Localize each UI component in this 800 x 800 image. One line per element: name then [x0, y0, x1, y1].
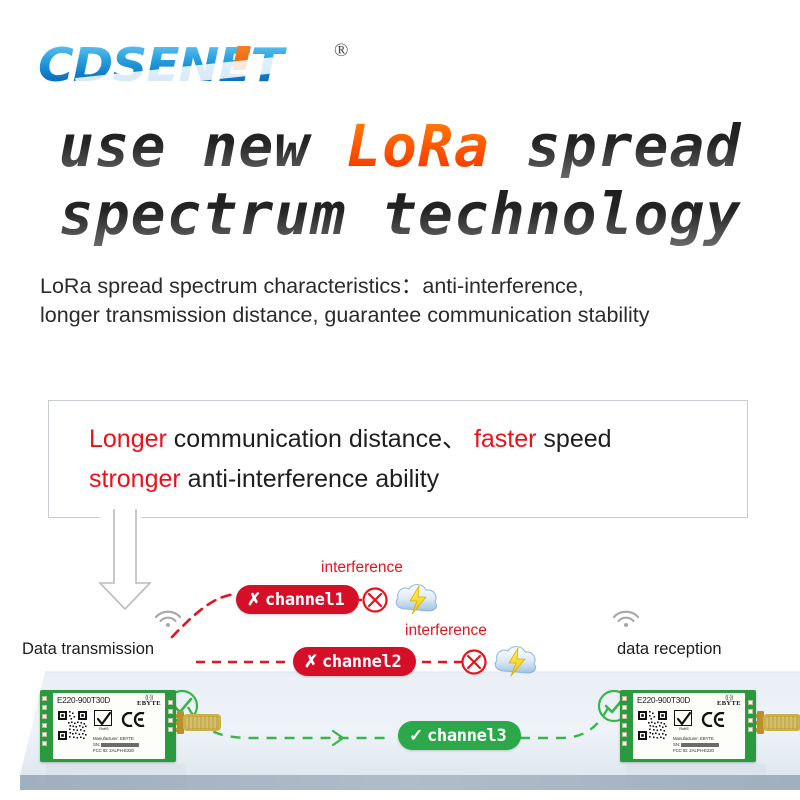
path-channel3-out	[520, 708, 608, 738]
channel-pill-label: channel3	[427, 726, 506, 746]
channel-pill-label: channel2	[322, 652, 401, 672]
channel-pill-channel1[interactable]: ✗ channel1	[236, 585, 359, 614]
qr-code-icon	[637, 710, 668, 741]
rohs-label: RoHS	[94, 727, 114, 731]
module-pcb: E220-900T30D ((·)) EBYTE	[40, 690, 176, 762]
wifi-signal-icon	[611, 608, 641, 628]
headline-text-use-new: use new	[59, 112, 346, 180]
label-data-transmission: Data transmission	[22, 640, 154, 659]
poster-canvas: CDSENET ® use new LoRa spread spectrum t…	[0, 0, 800, 800]
rohs-mark: RoHS	[94, 710, 114, 732]
storm-cloud-lightning-icon	[495, 647, 535, 676]
subtitle-line-2: longer transmission distance, guarantee …	[40, 301, 800, 330]
callout-keyword-longer: Longer	[89, 425, 167, 453]
subtitle: LoRa spread spectrum characteristics：ant…	[40, 272, 800, 330]
module-reflection	[626, 764, 766, 792]
callout-text-1b: communication distance、	[167, 425, 474, 453]
sma-antenna-connector-icon	[169, 710, 225, 735]
rohs-label: RoHS	[674, 727, 694, 731]
subtitle-line-1: LoRa spread spectrum characteristics：ant…	[40, 272, 800, 301]
brand-logo: CDSENET ®	[38, 38, 378, 96]
module-pads-left	[622, 696, 629, 754]
highlight-callout-box: Longer communication distance、 faster sp…	[48, 400, 748, 518]
serial-redaction-bar	[101, 743, 139, 747]
down-arrow-icon	[96, 505, 156, 615]
channel-pill-channel2[interactable]: ✗ channel2	[293, 647, 416, 676]
module-pads-right	[168, 700, 174, 740]
ebyte-brand-name: EBYTE	[717, 701, 741, 708]
callout-text-1d: speed	[536, 425, 611, 453]
module-pads-right	[748, 700, 754, 740]
module-reflection	[46, 764, 186, 792]
storm-cloud-lightning-icon	[396, 585, 436, 614]
ebyte-logo: ((·)) EBYTE	[717, 695, 741, 708]
module-label: E220-900T30D ((·)) EBYTE	[53, 693, 165, 759]
registered-trademark-symbol: ®	[334, 40, 348, 62]
module-fcc-id: FCC ID: 2ALPH-E220	[93, 748, 165, 754]
module-pcb: E220-900T30D ((·)) EBYTE	[620, 690, 756, 762]
headline-line-2: spectrum technology	[0, 180, 800, 248]
module-pads-left	[42, 696, 49, 754]
label-data-reception: data reception	[617, 640, 722, 659]
module-fcc-id: FCC ID: 2ALPH-E220	[673, 748, 745, 754]
check-icon: ✓	[409, 727, 423, 744]
ebyte-brand-name: EBYTE	[137, 701, 161, 708]
callout-keyword-stronger: stronger	[89, 465, 181, 493]
page-title: use new LoRa spread spectrum technology	[0, 112, 800, 248]
cross-icon: ✗	[304, 653, 318, 670]
interference-label: interference	[321, 559, 403, 577]
lora-module-left: E220-900T30D ((·)) EBYTE	[40, 690, 190, 762]
rohs-mark: RoHS	[674, 710, 694, 732]
callout-line-2: stronger anti-interference ability	[89, 459, 739, 499]
callout-text-2b: anti-interference ability	[181, 465, 439, 493]
headline-text-lora: LoRa	[346, 112, 490, 180]
callout-text: Longer communication distance、 faster sp…	[89, 419, 739, 499]
headline-text-spread: spread	[490, 112, 741, 180]
module-label: E220-900T30D ((·)) EBYTE	[633, 693, 745, 759]
channel-pill-label: channel1	[265, 590, 344, 610]
ce-mark	[121, 712, 147, 731]
callout-line-1: Longer communication distance、 faster sp…	[89, 419, 739, 459]
headline-line-1: use new LoRa spread	[0, 112, 800, 180]
module-model-number: E220-900T30D	[57, 696, 110, 705]
circle-x-icon	[364, 589, 387, 612]
callout-keyword-faster: faster	[474, 425, 537, 453]
serial-redaction-bar	[681, 743, 719, 747]
channel-pill-channel3[interactable]: ✓ channel3	[398, 721, 521, 750]
ebyte-logo: ((·)) EBYTE	[137, 695, 161, 708]
module-model-number: E220-900T30D	[637, 696, 690, 705]
module-fine-print: Manufacturer: EBYTE SN: FCC ID: 2ALPH-E2…	[93, 736, 165, 755]
lora-module-right: E220-900T30D ((·)) EBYTE	[620, 690, 770, 762]
ce-mark	[701, 712, 727, 731]
sma-antenna-connector-icon	[749, 710, 800, 735]
interference-label: interference	[405, 622, 487, 640]
qr-code-icon	[57, 710, 88, 741]
cross-icon: ✗	[247, 591, 261, 608]
module-fine-print: Manufacturer: EBYTE SN: FCC ID: 2ALPH-E2…	[673, 736, 745, 755]
circle-x-icon	[463, 651, 486, 674]
wifi-signal-icon	[153, 608, 183, 628]
